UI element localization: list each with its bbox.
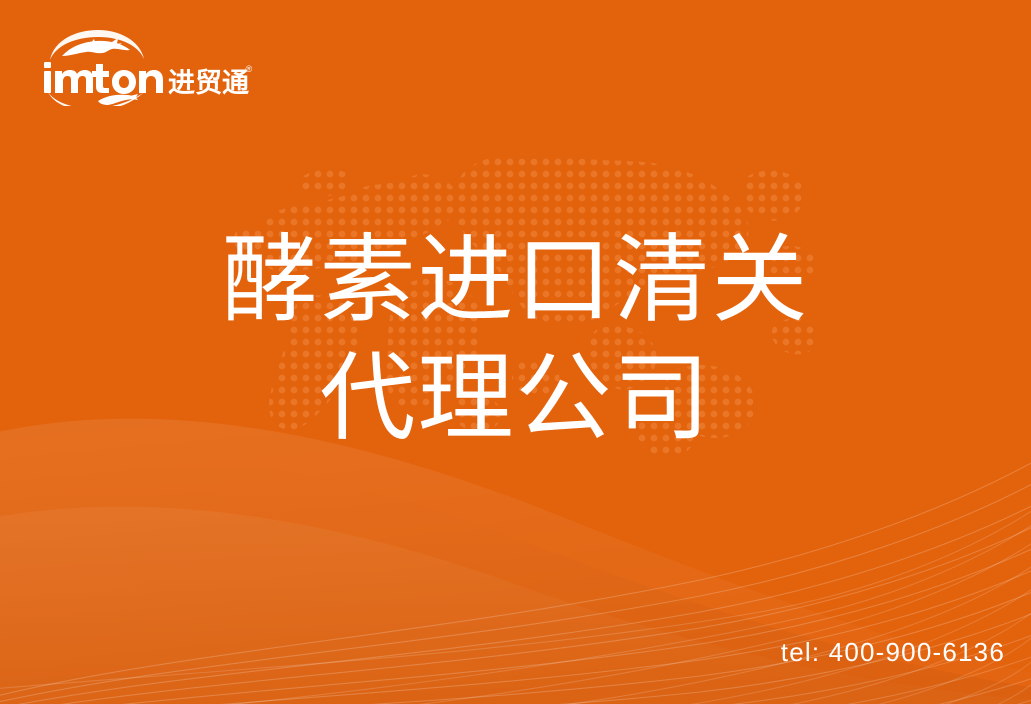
page-title-line-1: 酵素进口清关 [0, 222, 1031, 340]
brand-logo-svg: 进贸通 ® [38, 26, 258, 106]
registered-trademark-icon: ® [246, 64, 253, 74]
swoosh-bird-icon [48, 92, 144, 106]
page-title-line-2: 代理公司 [0, 340, 1031, 458]
logo-chinese-name: 进贸通 [168, 68, 249, 98]
poster-canvas: 进贸通 ® 酵素进口清关 代理公司 tel: 400-900-6136 [0, 0, 1031, 704]
globe-arc-icon [50, 30, 144, 60]
logo-wordmark [44, 62, 163, 94]
contact-phone[interactable]: tel: 400-900-6136 [781, 637, 1005, 668]
page-title: 酵素进口清关 代理公司 [0, 222, 1031, 458]
brand-logo[interactable]: 进贸通 ® [38, 26, 258, 106]
